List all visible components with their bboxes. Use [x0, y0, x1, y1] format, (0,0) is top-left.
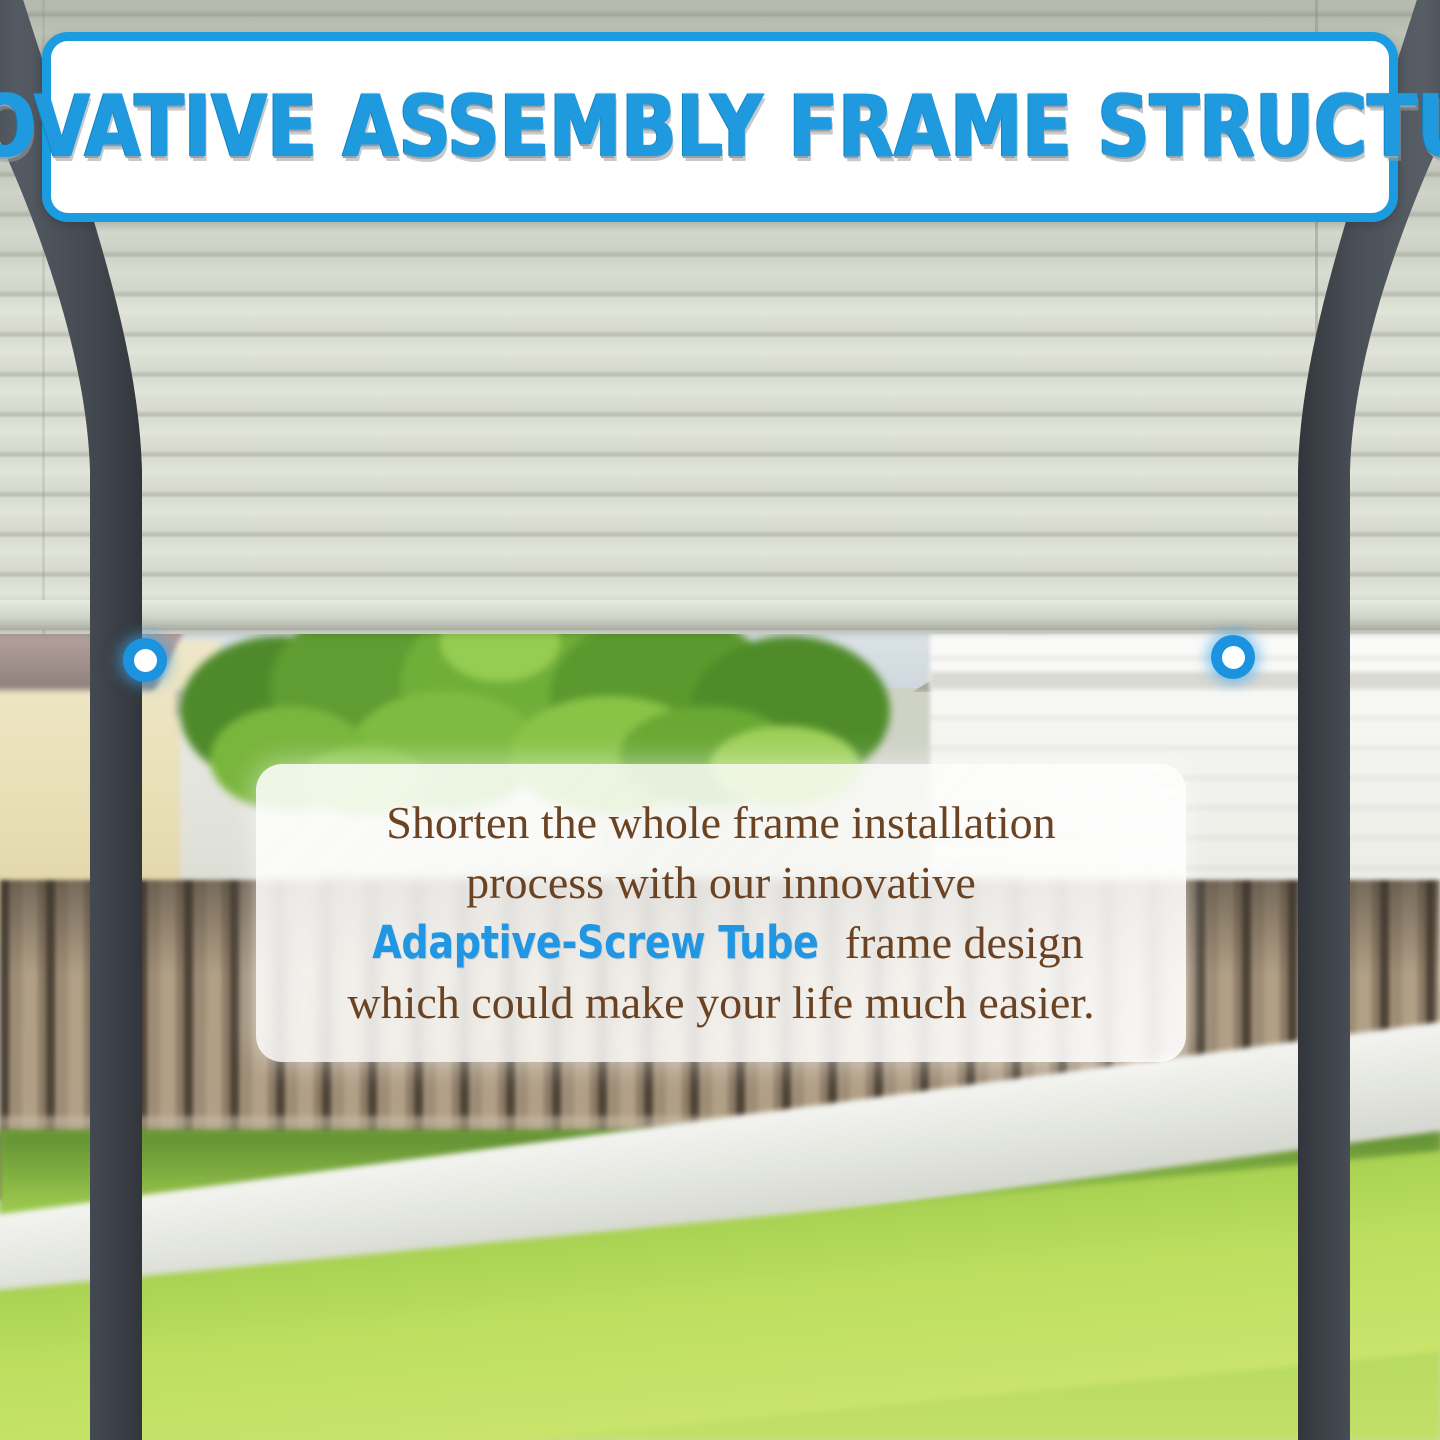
product-marketing-image: INNOVATIVE ASSEMBLY FRAME STRUCTURE! Sho…: [0, 0, 1440, 1440]
description-line-2: process with our innovative: [466, 853, 976, 913]
description-line-3: Adaptive-Screw Tube frame design: [358, 913, 1083, 973]
description-line-4: which could make your life much easier.: [347, 973, 1094, 1033]
description-line-3-suffix: frame design: [833, 917, 1083, 968]
right-frame-joint-marker[interactable]: [1211, 635, 1255, 679]
header-banner: INNOVATIVE ASSEMBLY FRAME STRUCTURE!: [42, 32, 1398, 222]
right-marker-core: [1222, 646, 1245, 669]
page-title: INNOVATIVE ASSEMBLY FRAME STRUCTURE!: [0, 84, 1440, 170]
left-frame-joint-marker[interactable]: [123, 638, 167, 682]
left-marker-core: [134, 649, 157, 672]
feature-description-card: Shorten the whole frame installation pro…: [256, 764, 1186, 1062]
product-feature-name: Adaptive-Screw Tube: [373, 914, 819, 973]
description-line-1: Shorten the whole frame installation: [386, 793, 1055, 853]
